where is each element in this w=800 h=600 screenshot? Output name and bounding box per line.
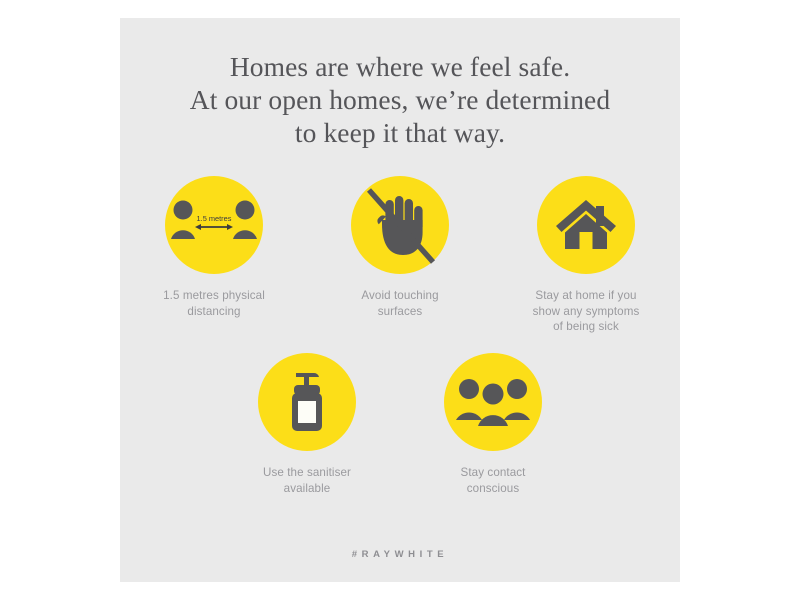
caption-line-2: surfaces <box>361 304 438 320</box>
caption-line-2: conscious <box>461 481 526 497</box>
headline-line-2: At our open homes, we’re determined <box>120 83 680 116</box>
house-icon <box>555 199 617 251</box>
brand-hashtag: #RAYWHITE <box>120 549 680 560</box>
tip-caption-sanitiser: Use the sanitiser available <box>263 465 351 496</box>
house-icon-circle <box>537 176 635 274</box>
sanitiser-pump-bottle-icon-circle <box>258 353 356 451</box>
caption-line-1: Avoid touching <box>361 288 438 304</box>
caption-line-2: show any symptoms <box>533 304 640 320</box>
social-distancing-icon-circle: 1.5 metres <box>165 176 263 274</box>
tip-item-avoid-touching: Avoid touching surfaces <box>307 176 493 335</box>
sanitiser-pump-bottle-icon <box>279 370 335 434</box>
headline-line-3: to keep it that way. <box>120 116 680 149</box>
caption-line-1: Use the sanitiser <box>263 465 351 481</box>
tips-row-top: 1.5 metres 1.5 metres physical distancin… <box>120 176 680 335</box>
group-of-people-icon-circle <box>444 353 542 451</box>
tip-item-contact-conscious: Stay contact conscious <box>400 353 586 496</box>
poster-panel: Homes are where we feel safe. At our ope… <box>120 18 680 582</box>
tip-caption-contact-conscious: Stay contact conscious <box>461 465 526 496</box>
distance-label: 1.5 metres <box>197 214 232 223</box>
tip-caption-stay-home: Stay at home if you show any symptoms of… <box>533 288 640 335</box>
caption-line-1: Stay contact <box>461 465 526 481</box>
tip-item-distancing: 1.5 metres 1.5 metres physical distancin… <box>121 176 307 335</box>
caption-line-2: available <box>263 481 351 497</box>
caption-line-1: 1.5 metres physical <box>163 288 265 304</box>
page-title: Homes are where we feel safe. At our ope… <box>120 50 680 149</box>
caption-line-2: distancing <box>163 304 265 320</box>
caption-line-3: of being sick <box>533 319 640 335</box>
group-of-people-icon <box>456 376 530 428</box>
tip-item-stay-home: Stay at home if you show any symptoms of… <box>493 176 679 335</box>
tip-caption-distancing: 1.5 metres physical distancing <box>163 288 265 319</box>
tip-item-sanitiser: Use the sanitiser available <box>214 353 400 496</box>
caption-line-1: Stay at home if you <box>533 288 640 304</box>
tip-caption-avoid-touching: Avoid touching surfaces <box>361 288 438 319</box>
tips-row-bottom: Use the sanitiser available <box>120 353 680 496</box>
no-touching-hand-icon-circle <box>351 176 449 274</box>
no-touching-hand-icon <box>351 176 449 274</box>
headline-line-1: Homes are where we feel safe. <box>120 50 680 83</box>
social-distancing-icon: 1.5 metres <box>171 195 257 255</box>
